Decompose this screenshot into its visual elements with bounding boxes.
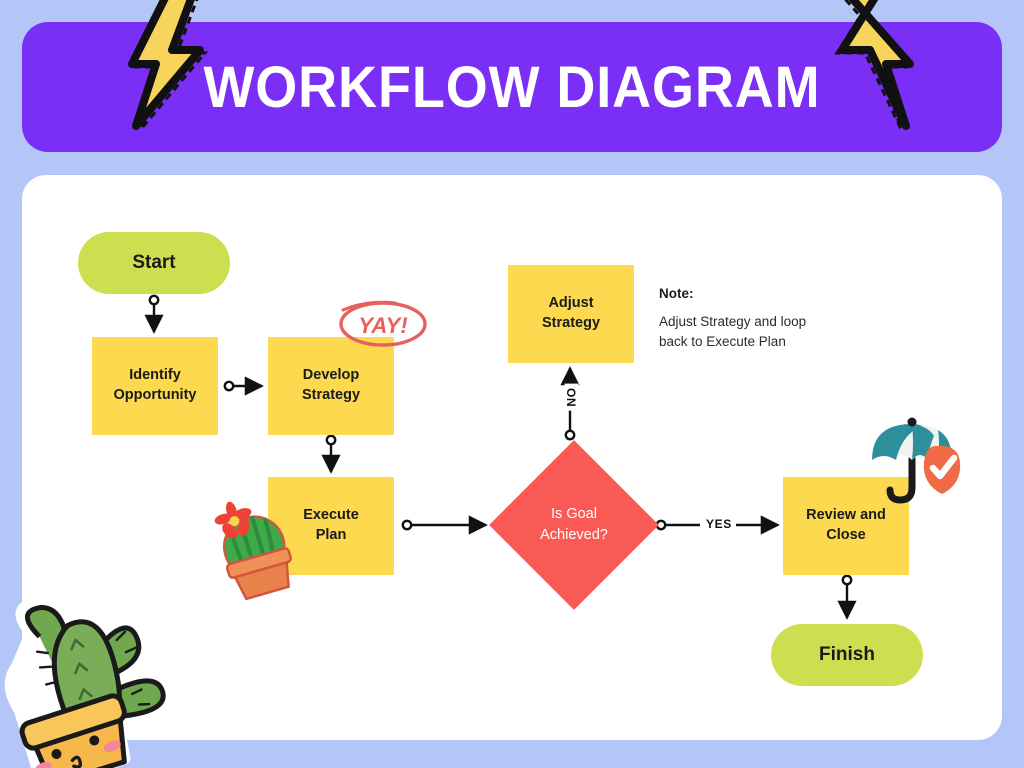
cactus-pot-sticker <box>0 592 192 768</box>
flower-cactus-sticker <box>207 498 307 600</box>
note-title: Note: <box>659 286 829 301</box>
node-adjust-strategy[interactable]: Adjust Strategy <box>508 265 634 363</box>
node-label: Review and Close <box>806 506 886 545</box>
node-label: Is Goal Achieved? <box>514 465 634 585</box>
note-block: Note: Adjust Strategy and loop back to E… <box>659 286 829 353</box>
node-label: Finish <box>819 642 875 668</box>
yay-sticker: YAY! <box>337 296 429 352</box>
edge-label-yes: YES <box>702 517 736 531</box>
svg-text:YAY!: YAY! <box>358 313 407 338</box>
node-label: Execute Plan <box>303 506 359 545</box>
node-label: Start <box>132 250 175 276</box>
umbrella-shield-check-sticker <box>866 416 966 508</box>
edge-label-no: NO <box>565 383 579 410</box>
node-label: Develop Strategy <box>302 366 360 405</box>
node-label: Identify Opportunity <box>114 366 197 405</box>
poster-canvas: WORKFLOW DIAGRAM <box>0 0 1024 768</box>
note-body: Adjust Strategy and loop back to Execute… <box>659 312 829 353</box>
node-identify-opportunity[interactable]: Identify Opportunity <box>92 337 218 435</box>
node-start[interactable]: Start <box>78 232 230 294</box>
node-label: Adjust Strategy <box>542 294 600 333</box>
node-is-goal-achieved[interactable]: Is Goal Achieved? <box>514 465 634 585</box>
node-finish[interactable]: Finish <box>771 624 923 686</box>
